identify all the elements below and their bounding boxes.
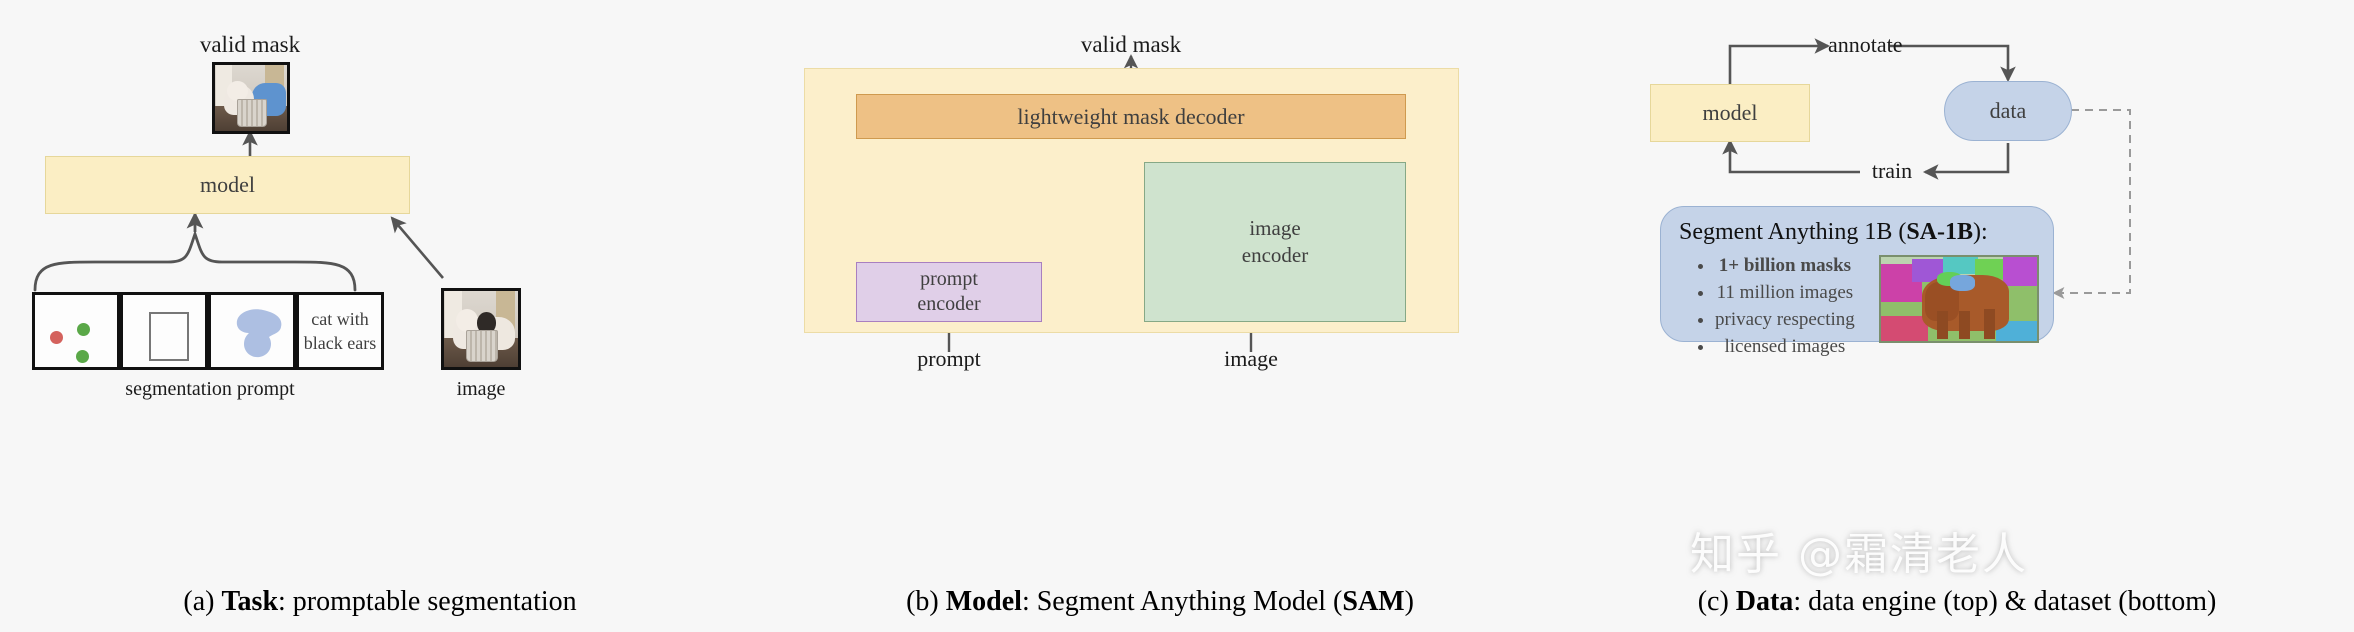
figure-root: valid mask model: [0, 0, 2354, 632]
panel-b-caption-prefix: (b): [906, 586, 946, 617]
data-engine-model-box: model: [1650, 84, 1810, 142]
data-engine-model-label: model: [1703, 100, 1758, 126]
box-prompt-card: [120, 292, 208, 370]
watermark: 知乎 @霜清老人: [1690, 518, 2028, 582]
panel-a-output-label: valid mask: [160, 32, 340, 58]
model-box-label: model: [200, 172, 255, 198]
panel-c-caption-rest: : data engine (top) & dataset (bottom): [1793, 586, 2216, 617]
annotate-label: annotate: [1828, 32, 1892, 58]
panel-b-caption-bold2: SAM: [1342, 586, 1404, 617]
list-item: privacy respecting: [1715, 307, 1855, 334]
prompt-encoder-label-line-1: prompt: [920, 267, 978, 292]
list-item: licensed images: [1715, 334, 1855, 361]
sa1b-title: Segment Anything 1B (SA-1B):: [1679, 219, 1988, 246]
prompt-encoder-label-line-2: encoder: [917, 292, 980, 317]
image-encoder-label-line-2: encoder: [1242, 242, 1308, 269]
input-image-label: image: [431, 378, 531, 401]
sa1b-bullet-1: 11 million images: [1717, 282, 1854, 303]
valid-mask-thumbnail: [212, 62, 290, 134]
data-engine-data-box: data: [1944, 81, 2072, 141]
mask-decoder-label: lightweight mask decoder: [1017, 104, 1244, 130]
mask-prompt-card: [208, 292, 296, 370]
panel-b-caption-bold: Model: [946, 586, 1022, 617]
panel-a-caption-rest: : promptable segmentation: [278, 586, 577, 617]
panel-c-caption: (c) Data: data engine (top) & dataset (b…: [1560, 586, 2354, 618]
image-encoder-box: image encoder: [1144, 162, 1406, 322]
panel-a-caption-prefix: (a): [183, 586, 221, 617]
bounding-box-icon: [149, 312, 189, 361]
panel-a-caption: (a) Task: promptable segmentation: [0, 586, 760, 618]
text-prompt-line-2: black ears: [304, 331, 376, 355]
list-item: 1+ billion masks: [1715, 253, 1855, 280]
input-image-thumbnail: [441, 288, 521, 370]
mask-blob-icon: [211, 295, 296, 370]
sa1b-bullet-2: privacy respecting: [1715, 309, 1855, 330]
panel-c-caption-bold: Data: [1736, 586, 1794, 617]
mask-decoder-box: lightweight mask decoder: [856, 94, 1406, 139]
panel-c-caption-prefix: (c): [1698, 586, 1736, 617]
prompt-encoder-box: prompt encoder: [856, 262, 1042, 322]
image-encoder-label-line-1: image: [1249, 215, 1300, 242]
positive-point-icon-1: [77, 323, 90, 336]
sa1b-title-tail: ):: [1973, 219, 1988, 245]
panel-b-caption-rest: : Segment Anything Model (: [1022, 586, 1342, 617]
text-prompt-line-1: cat with: [311, 307, 368, 331]
sa1b-title-plain: Segment Anything 1B (: [1679, 219, 1906, 245]
text-prompt-card: cat with black ears: [296, 292, 384, 370]
panel-task: valid mask model: [0, 0, 760, 632]
negative-point-icon: [50, 331, 63, 344]
sa1b-bullet-0: 1+ billion masks: [1719, 255, 1851, 276]
model-box: model: [45, 156, 410, 214]
sa1b-bullet-list: 1+ billion masks 11 million images priva…: [1693, 253, 1855, 361]
panel-b-caption: (b) Model: Segment Anything Model (SAM): [760, 586, 1560, 618]
list-item: 11 million images: [1715, 280, 1855, 307]
points-prompt-card: [32, 292, 120, 370]
positive-point-icon-2: [76, 350, 89, 363]
sa1b-dataset-card: Segment Anything 1B (SA-1B): 1+ billion …: [1660, 206, 2054, 342]
segmentation-prompt-label: segmentation prompt: [110, 378, 310, 401]
sa1b-bullet-3: licensed images: [1724, 336, 1845, 357]
panel-b-output-label: valid mask: [1051, 32, 1211, 58]
panel-model: valid mask lightweight mask decoder imag…: [760, 0, 1560, 632]
sa1b-title-bold: SA-1B: [1906, 219, 1973, 245]
prompt-input-label: prompt: [889, 346, 1009, 372]
sa1b-sample-image: [1879, 255, 2039, 343]
data-engine-data-label: data: [1990, 98, 2027, 124]
image-input-label: image: [1191, 346, 1311, 372]
panel-a-caption-bold: Task: [221, 586, 278, 617]
panel-b-caption-tail: ): [1405, 586, 1414, 617]
train-label: train: [1860, 158, 1924, 184]
